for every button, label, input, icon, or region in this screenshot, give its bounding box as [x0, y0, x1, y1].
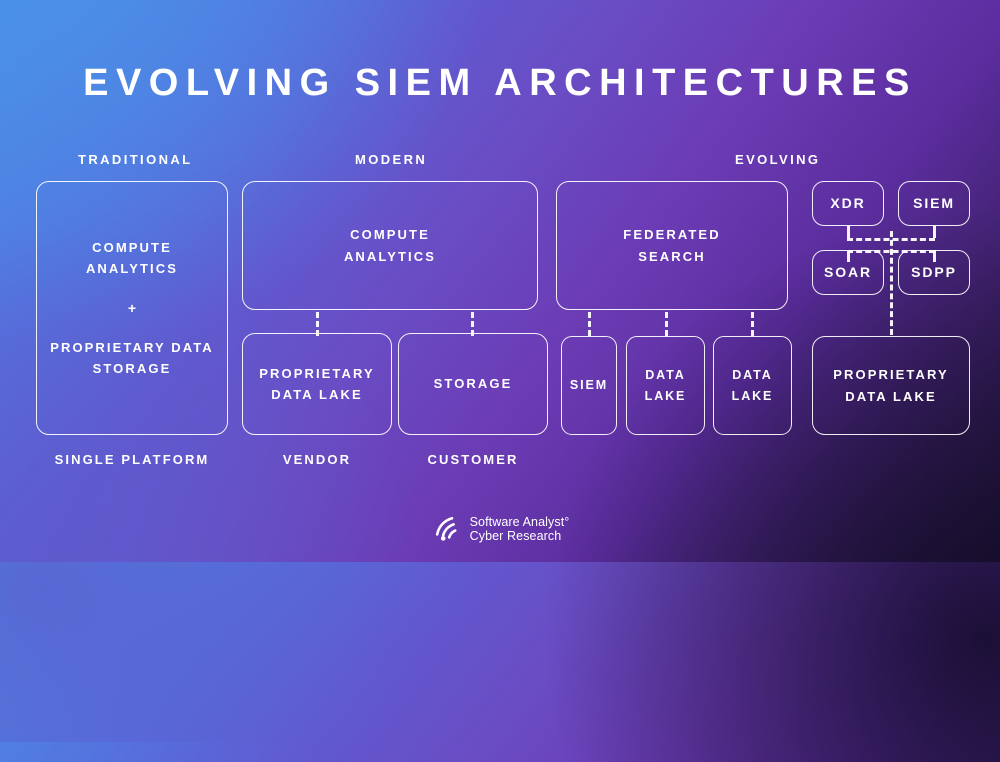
modern-storage-box[interactable]: STORAGE: [398, 333, 548, 435]
evolving-data-lake-2-box[interactable]: DATA LAKE: [713, 336, 792, 435]
column-header-traditional: TRADITIONAL: [78, 152, 193, 167]
evolving-federated-search-box[interactable]: FEDERATED SEARCH: [556, 181, 788, 310]
caption-vendor: VENDOR: [242, 452, 392, 467]
evolving-data-lake-1-label: DATA LAKE: [645, 365, 687, 406]
caption-customer: CUSTOMER: [398, 452, 548, 467]
traditional-compute-analytics-label: COMPUTE ANALYTICS: [86, 237, 178, 279]
evolving-siem-right-label: SIEM: [913, 192, 955, 215]
caption-single-platform: SINGLE PLATFORM: [36, 452, 228, 467]
connector-federated-to-siem: [588, 312, 591, 336]
traditional-single-platform-box[interactable]: COMPUTE ANALYTICS + PROPRIETARY DATA STO…: [36, 181, 228, 435]
evolving-data-lake-2-label: DATA LAKE: [732, 365, 774, 406]
evolving-federated-search-label: FEDERATED SEARCH: [623, 224, 720, 266]
evolving-proprietary-data-lake-box[interactable]: PROPRIETARY DATA LAKE: [812, 336, 970, 435]
modern-compute-analytics-box[interactable]: COMPUTE ANALYTICS: [242, 181, 538, 310]
evolving-soar-box[interactable]: SOAR: [812, 250, 884, 295]
modern-proprietary-data-lake-box[interactable]: PROPRIETARY DATA LAKE: [242, 333, 392, 435]
column-header-modern: MODERN: [355, 152, 427, 167]
footer-line-2: Cyber Research: [470, 529, 570, 544]
connector-federated-to-data-lake-1: [665, 312, 668, 336]
evolving-soar-label: SOAR: [824, 261, 872, 284]
evolving-sdpp-box[interactable]: SDPP: [898, 250, 970, 295]
connector-cluster-trunk-to-data-lake: [890, 231, 893, 335]
evolving-xdr-label: XDR: [830, 192, 865, 215]
modern-compute-analytics-label: COMPUTE ANALYTICS: [344, 224, 436, 266]
traditional-plus-symbol: +: [128, 301, 136, 315]
page-title: EVOLVING SIEM ARCHITECTURES: [0, 62, 1000, 105]
diagram-canvas: EVOLVING SIEM ARCHITECTURES TRADITIONAL …: [0, 0, 1000, 562]
evolving-sdpp-label: SDPP: [911, 261, 957, 284]
modern-storage-label: STORAGE: [434, 373, 513, 394]
evolving-siem-label: SIEM: [570, 375, 608, 395]
traditional-proprietary-data-storage-label: PROPRIETARY DATA STORAGE: [50, 337, 214, 379]
connector-federated-to-data-lake-2: [751, 312, 754, 336]
footer-line-1: Software Analyst°: [470, 515, 570, 530]
evolving-siem-box[interactable]: SIEM: [561, 336, 617, 435]
connector-siem-right-stub: [933, 226, 936, 238]
evolving-siem-right-box[interactable]: SIEM: [898, 181, 970, 226]
connector-xdr-stub: [847, 226, 850, 238]
evolving-xdr-box[interactable]: XDR: [812, 181, 884, 226]
column-header-evolving: EVOLVING: [735, 152, 820, 167]
footer-branding: Software Analyst° Cyber Research: [0, 515, 1000, 545]
signal-arcs-logo-icon: [431, 516, 461, 542]
evolving-proprietary-data-lake-label: PROPRIETARY DATA LAKE: [833, 364, 949, 406]
evolving-data-lake-1-box[interactable]: DATA LAKE: [626, 336, 705, 435]
modern-proprietary-data-lake-label: PROPRIETARY DATA LAKE: [259, 363, 375, 405]
footer-wordmark: Software Analyst° Cyber Research: [470, 515, 570, 545]
